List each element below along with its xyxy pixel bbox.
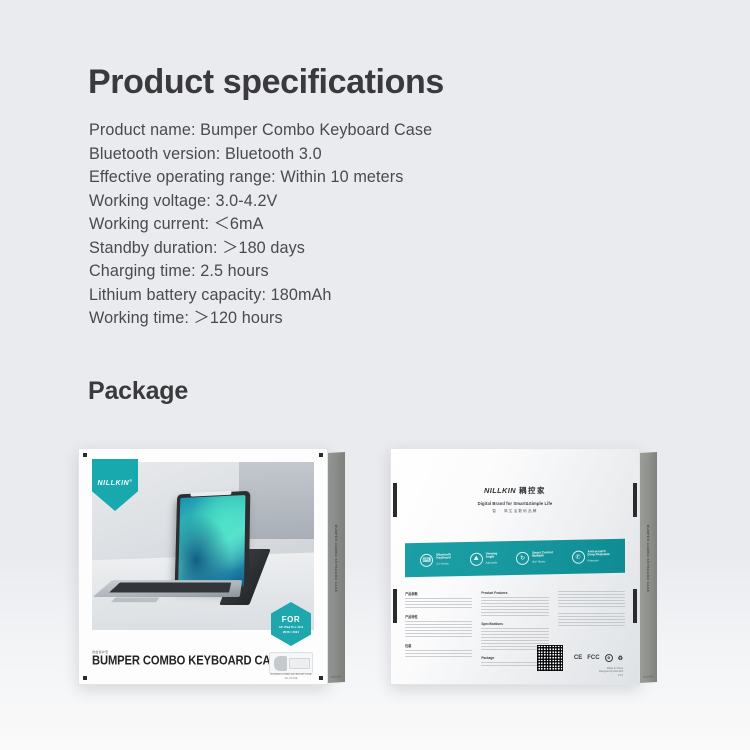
tear-strip: [633, 589, 637, 623]
spec-line: Working current: ＜6mA: [89, 213, 559, 237]
box-product-title: BUMPER COMBO KEYBOARD CASE: [92, 655, 285, 668]
text-rule: [558, 594, 625, 595]
text-rule: [558, 616, 625, 617]
column-heading: 产品特性: [405, 614, 472, 619]
weee-mark-icon: ♻: [618, 655, 623, 662]
rohs-mark-icon: ♻: [605, 654, 613, 662]
rotate-icon: ↻: [516, 551, 529, 564]
text-rule: [481, 612, 548, 613]
keyboard-illustration: [93, 580, 242, 597]
feature-item: ↻ Smart Control Multiple 360° Rotate: [516, 551, 553, 565]
feature-item: ✆ Anti-scratch Drop Resistant Protection: [572, 550, 610, 564]
text-rule: [558, 625, 625, 626]
protection-icon: ✆: [572, 550, 585, 563]
feature-bar: ⌨ Bluetooth Keyboard 3.0 Version ⛰ Viewi…: [405, 539, 625, 578]
qr-code: [537, 645, 563, 671]
column-heading: Specifications: [481, 622, 548, 626]
badge-model-line-1: AP iPad Pro 12.9: [279, 625, 304, 629]
registration-mark-icon: [319, 453, 323, 457]
stand-icon: ⛰: [470, 552, 483, 565]
text-rule: [481, 597, 548, 598]
fine-print-column: 产品参数 产品特性 包装: [405, 591, 472, 668]
certification-marks: CE FCC ♻ ♻: [574, 654, 623, 662]
trackpad: [111, 598, 160, 602]
spine-label: BUMPER COMBO KEYBOARD CASE: [334, 524, 338, 592]
specification-list: Product name: Bumper Combo Keyboard Case…: [89, 119, 559, 331]
brand-logo: NILLKIN®: [98, 479, 133, 487]
feature-title: Drop Resistant: [588, 553, 610, 557]
text-rule: [481, 628, 548, 629]
text-rule: [405, 633, 472, 634]
spec-line: Standby duration: ＞180 days: [89, 237, 559, 261]
text-rule: [481, 634, 548, 635]
feature-sub: Adjustable: [486, 561, 498, 565]
registration-mark-icon: [83, 676, 87, 680]
text-rule: [481, 640, 548, 641]
badge-for-label: FOR: [282, 615, 300, 624]
case-icon: [274, 656, 287, 671]
text-rule: [558, 603, 625, 604]
brand-tagline-cn: 智 · 简生活数码品牌: [391, 509, 639, 514]
text-rule: [405, 636, 472, 637]
spec-line: Working voltage: 3.0-4.2V: [89, 190, 559, 214]
back-box-footer: Made in China Designed by NILLKIN V1.0: [599, 667, 623, 677]
ce-mark-icon: CE: [574, 655, 582, 661]
text-rule: [405, 656, 472, 657]
package-box-back: BUMPER COMBO KEYBOARD CASE NILLKIN NILLK…: [390, 448, 640, 685]
spec-line: Charging time: 2.5 hours: [89, 260, 559, 284]
text-rule: [558, 597, 625, 598]
spec-line: Working time: ＞120 hours: [89, 307, 559, 331]
page-title: Product specifications: [88, 63, 444, 102]
package-box-back-spine: BUMPER COMBO KEYBOARD CASE NILLKIN: [639, 452, 657, 683]
text-rule: [481, 600, 548, 601]
package-box-front-spine: BUMPER COMBO KEYBOARD CASE NILLKIN: [327, 452, 345, 683]
spec-line: Lithium battery capacity: 180mAh: [89, 284, 559, 308]
package-box-back-face: NILLKIN耦控家 Digital Brand for Smart&Simpl…: [390, 448, 640, 685]
package-section-title: Package: [88, 377, 188, 406]
package-box-front-face: NILLKIN® FOR AP iPad Pro 12.9 2020 / 202…: [78, 448, 328, 685]
text-rule: [405, 598, 472, 599]
feature-title: Keyboard: [436, 557, 450, 561]
keyboard-icon: [289, 658, 310, 669]
registration-mark-icon: [83, 453, 87, 457]
thumbnail-caption: BUMPER COMBO KEYBOARD CASE ALL IN ONE: [269, 673, 313, 680]
text-rule: [481, 615, 548, 616]
column-heading: 产品参数: [405, 591, 472, 596]
tablet-screen: [178, 495, 245, 587]
text-rule: [481, 603, 548, 604]
tear-strip: [393, 589, 397, 623]
text-rule: [558, 591, 625, 592]
spine-label: BUMPER COMBO KEYBOARD CASE: [646, 524, 650, 592]
back-box-header: NILLKIN耦控家 Digital Brand for Smart&Simpl…: [391, 485, 639, 514]
tablet-illustration: [175, 490, 251, 591]
feature-sub: 360° Rotate: [532, 560, 553, 564]
brand-tagline-en: Digital Brand for Smart&Simple Life: [391, 501, 639, 506]
product-thumbnail: [269, 652, 313, 674]
text-rule: [405, 650, 472, 651]
text-rule: [558, 613, 625, 614]
text-rule: [405, 607, 472, 608]
text-rule: [405, 653, 472, 654]
text-rule: [481, 631, 548, 632]
feature-title: Multiple: [532, 555, 553, 559]
text-rule: [481, 606, 548, 607]
stylus-holder-icon: [191, 490, 232, 496]
feature-item: ⛰ Viewing Angle Adjustable: [470, 552, 498, 566]
text-rule: [558, 619, 625, 620]
keyboard-icon: ⌨: [420, 553, 433, 566]
column-heading: Product Features: [481, 591, 548, 595]
badge-model-line-2: 2020 / 2021: [283, 630, 299, 634]
text-rule: [405, 604, 472, 605]
text-rule: [558, 606, 625, 607]
spec-line: Bluetooth version: Bluetooth 3.0: [89, 143, 559, 167]
spine-brand: NILLKIN: [331, 675, 341, 679]
text-rule: [481, 609, 548, 610]
text-rule: [405, 627, 472, 628]
text-rule: [405, 624, 472, 625]
spine-brand: NILLKIN: [643, 675, 653, 679]
text-rule: [481, 637, 548, 638]
feature-sub: Protection: [588, 559, 610, 563]
package-images: BUMPER COMBO KEYBOARD CASE NILLKIN: [0, 440, 750, 700]
text-rule: [405, 621, 472, 622]
text-rule: [481, 643, 548, 644]
fcc-mark-icon: FCC: [587, 655, 599, 661]
spec-line: Effective operating range: Within 10 met…: [89, 166, 559, 190]
keyboard-keys: [109, 582, 231, 592]
feature-sub: 3.0 Version: [436, 562, 450, 566]
feature-item: ⌨ Bluetooth Keyboard 3.0 Version: [420, 553, 450, 567]
package-box-front: BUMPER COMBO KEYBOARD CASE NILLKIN: [78, 448, 328, 685]
column-heading: 包装: [405, 643, 472, 648]
brand-logo: NILLKIN耦控家: [391, 485, 639, 496]
text-rule: [405, 601, 472, 602]
text-rule: [558, 600, 625, 601]
spec-line: Product name: Bumper Combo Keyboard Case: [89, 119, 559, 143]
box-cn-caption: 键盘保护套: [92, 650, 109, 654]
feature-title: Angle: [486, 556, 498, 560]
text-rule: [405, 630, 472, 631]
registration-mark-icon: [319, 676, 323, 680]
text-rule: [558, 622, 625, 623]
product-spec-page: Product specifications Product name: Bum…: [0, 0, 750, 750]
